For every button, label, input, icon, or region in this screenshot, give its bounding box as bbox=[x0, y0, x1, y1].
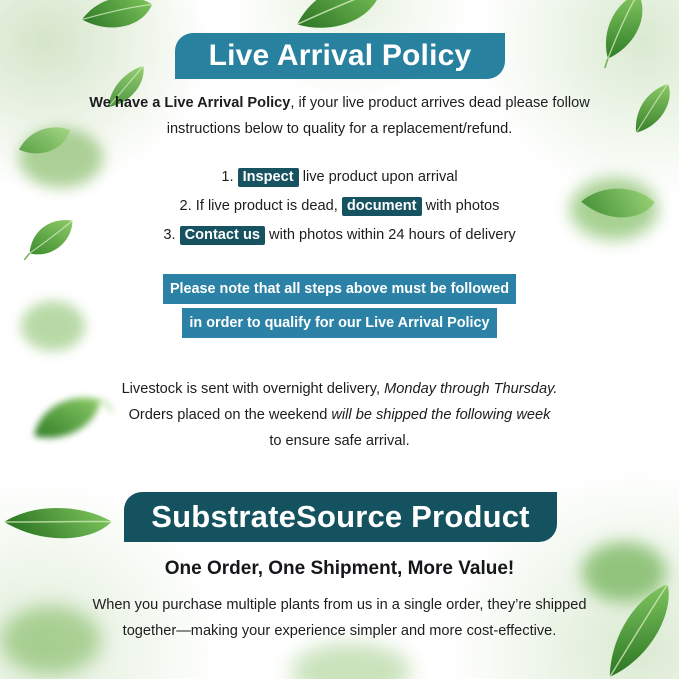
step-after: with photos bbox=[426, 198, 500, 214]
list-item: 2. If live product is dead, document wit… bbox=[0, 192, 679, 221]
step-highlight: document bbox=[342, 197, 422, 216]
steps-list: 1. Inspect live product upon arrival 2. … bbox=[0, 163, 679, 250]
livestock-line-1-italic: Monday through Thursday. bbox=[384, 381, 557, 397]
intro-rest: , if your live product arrives dead plea… bbox=[290, 95, 589, 111]
list-item: 1. Inspect live product upon arrival bbox=[0, 163, 679, 192]
step-number: 1. bbox=[221, 169, 233, 185]
bottom-line-1: When you purchase multiple plants from u… bbox=[0, 592, 679, 618]
livestock-line-2: Orders placed on the weekend will be shi… bbox=[0, 402, 679, 428]
livestock-line-1: Livestock is sent with overnight deliver… bbox=[0, 376, 679, 402]
step-number: 2. bbox=[180, 198, 192, 214]
step-after: live product upon arrival bbox=[303, 169, 458, 185]
intro-line-1: We have a Live Arrival Policy, if your l… bbox=[0, 90, 679, 116]
intro-line-2: instructions below to quality for a repl… bbox=[0, 116, 679, 142]
step-highlight: Inspect bbox=[238, 168, 299, 187]
livestock-paragraph: Livestock is sent with overnight deliver… bbox=[0, 376, 679, 454]
livestock-line-3: to ensure safe arrival. bbox=[0, 428, 679, 454]
list-item: 3. Contact us with photos within 24 hour… bbox=[0, 221, 679, 250]
bottom-headline: One Order, One Shipment, More Value! bbox=[0, 558, 679, 580]
intro-lead: We have a Live Arrival Policy bbox=[89, 95, 290, 111]
banner-substratesource-product: SubstrateSource Product bbox=[124, 492, 557, 542]
policy-note-line-1: Please note that all steps above must be… bbox=[163, 274, 516, 304]
livestock-line-1-plain: Livestock is sent with overnight deliver… bbox=[122, 381, 385, 397]
banner-live-arrival-policy: Live Arrival Policy bbox=[175, 33, 505, 79]
policy-note: Please note that all steps above must be… bbox=[0, 274, 679, 342]
intro-paragraph: We have a Live Arrival Policy, if your l… bbox=[0, 90, 679, 142]
step-before: If live product is dead, bbox=[196, 198, 338, 214]
step-number: 3. bbox=[163, 227, 175, 243]
bottom-line-2: together—making your experience simpler … bbox=[0, 618, 679, 644]
step-after: with photos within 24 hours of delivery bbox=[269, 227, 516, 243]
step-highlight: Contact us bbox=[180, 226, 265, 245]
promo-image: Live Arrival Policy We have a Live Arriv… bbox=[0, 0, 679, 679]
policy-note-line-2: in order to qualify for our Live Arrival… bbox=[182, 308, 496, 338]
livestock-line-2-plain: Orders placed on the weekend bbox=[129, 407, 332, 423]
bottom-paragraph: When you purchase multiple plants from u… bbox=[0, 592, 679, 644]
livestock-line-2-italic: will be shipped the following week bbox=[331, 407, 550, 423]
